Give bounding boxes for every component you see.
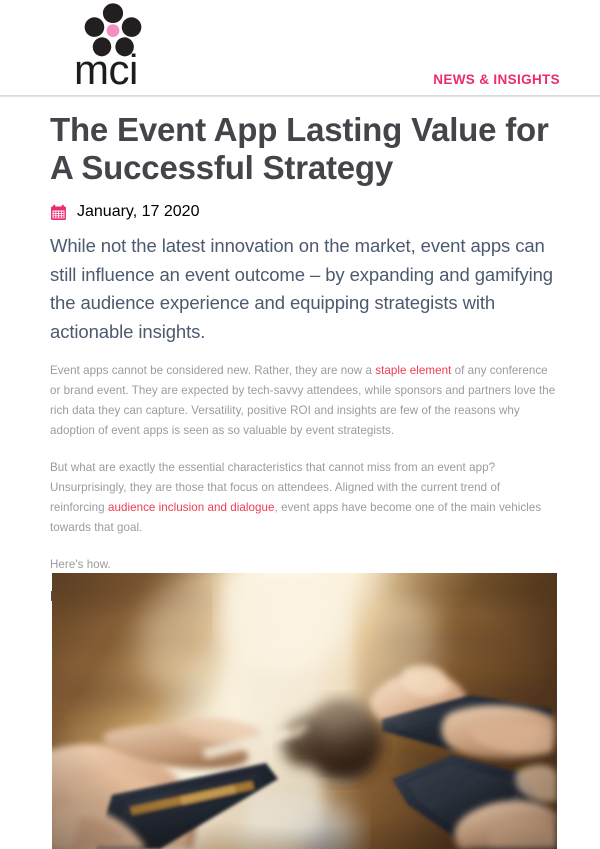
link-audience-inclusion-and-dialogue[interactable]: audience inclusion and dialogue: [108, 501, 275, 514]
article-paragraph-3: Here's how.: [50, 555, 558, 575]
calendar-icon: [50, 204, 67, 221]
article-lead-line-b: the audience experience and equipping st…: [50, 292, 495, 342]
site-header: mci NEWS & INSIGHTS: [0, 0, 600, 97]
publish-date: January, 17 2020: [77, 203, 199, 221]
article-page: mci NEWS & INSIGHTS The Event App Lastin…: [0, 0, 600, 849]
nav-news-and-insights[interactable]: NEWS & INSIGHTS: [433, 72, 560, 87]
hero-image-graphic: [52, 573, 557, 849]
article-lead: While not the latest innovation on the m…: [50, 232, 558, 346]
article-lead-line-a: While not the latest innovation on the m…: [50, 235, 553, 285]
logo-wordmark: mci: [74, 48, 138, 92]
article-meta: January, 17 2020: [50, 202, 558, 222]
site-logo[interactable]: mci: [74, 2, 154, 92]
article-body: The Event App Lasting Value for A Succes…: [0, 97, 600, 605]
paragraph-1-text-before-link: Event apps cannot be considered new. Rat…: [50, 364, 375, 377]
link-staple-element[interactable]: staple element: [375, 364, 451, 377]
page-title: The Event App Lasting Value for A Succes…: [50, 111, 558, 187]
article-hero-image: [52, 573, 557, 849]
article-paragraph-1: Event apps cannot be considered new. Rat…: [50, 361, 558, 441]
article-paragraph-2: But what are exactly the essential chara…: [50, 458, 558, 538]
